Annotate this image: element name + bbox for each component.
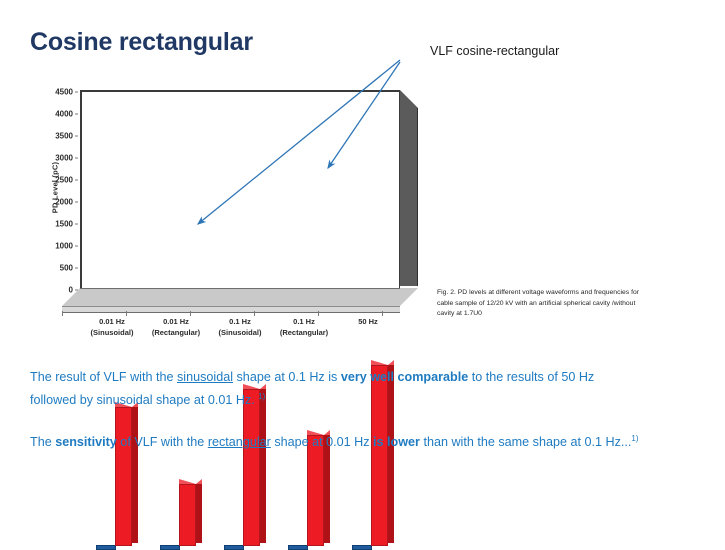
y-tick-2000: 2000 [55,198,73,207]
bar-face-3 [243,389,260,546]
bar-floor-marker-5 [352,545,372,550]
chart-floor-left-skew [62,288,80,306]
p1-footnote-marker: 1) [258,392,265,401]
y-tickmark-4000 [75,114,78,115]
p2-text-4: than with the same shape at 0.1 Hz... [420,435,631,449]
p1-bold-comparable: very well comparable [341,370,468,384]
x-separator-3 [190,311,191,316]
p2-text-2: of VLF with the [117,435,208,449]
p2-text-3: shape at 0.01 Hz [271,435,373,449]
p2-bold-is-lower: is lower [373,435,420,449]
chart-right-wall [400,108,418,286]
x-tick-line1-5: 50 Hz [328,316,408,327]
y-tick-4500: 4500 [55,88,73,97]
y-tickmark-3000 [75,158,78,159]
p1-underline-sinusoidal: sinusoidal [177,370,233,384]
bar-floor-marker-1 [96,545,116,550]
figure-caption: Fig. 2. PD levels at different voltage w… [437,288,645,320]
y-tick-3000: 3000 [55,154,73,163]
x-separator-2 [126,311,127,316]
body-paragraph-2: The sensitivity of VLF with the rectangu… [30,429,695,452]
bar-side-1 [132,407,138,543]
bar-side-2 [196,484,202,543]
x-separator-4 [254,311,255,316]
annotation-label: VLF cosine-rectangular [430,44,559,58]
body-paragraph-1: The result of VLF with the sinusoidal sh… [30,368,630,410]
y-tick-2500: 2500 [55,176,73,185]
x-separator-end [382,311,383,316]
bar-side-3 [260,389,266,543]
p2-bold-sensitivity: sensitivity [55,435,117,449]
bar-floor-marker-3 [224,545,244,550]
pd-level-bar-chart: PD Level (pC) 05001000150020002500300035… [18,88,428,338]
x-tick-label-5: 50 Hz [328,316,408,327]
y-tick-1500: 1500 [55,220,73,229]
page-title: Cosine rectangular [30,28,253,57]
p2-underline-rectangular: rectangular [208,435,271,449]
chart-right-wall-top [400,90,418,108]
x-separator-1 [62,311,63,316]
y-tick-500: 500 [60,264,73,273]
bar-top-skew-5 [388,360,394,365]
y-tick-4000: 4000 [55,110,73,119]
y-tickmark-3500 [75,136,78,137]
plot-area [80,90,400,288]
p1-text-1: The result of VLF with the [30,370,177,384]
p2-footnote-marker: 1) [631,434,638,443]
p2-text-1: The [30,435,55,449]
p1-text-2: shape at 0.1 Hz is [233,370,341,384]
bar-top-skew-2 [196,479,202,484]
bar-face-1 [115,407,132,546]
y-tickmark-1000 [75,246,78,247]
x-tick-line2-4: (Rectangular) [264,327,344,338]
y-tickmark-1500 [75,224,78,225]
chart-floor [80,288,400,307]
y-tickmark-500 [75,268,78,269]
y-tickmark-2500 [75,180,78,181]
x-axis-tick-labels: 0.01 Hz(Sinusoidal)0.01 Hz(Rectangular)0… [62,316,418,350]
chart-floor-right-skew [400,288,418,306]
y-tickmark-2000 [75,202,78,203]
y-axis-tick-labels: 050010001500200025003000350040004500 [40,90,78,288]
bar-face-2 [179,484,196,546]
y-tick-3500: 3500 [55,132,73,141]
y-tick-1000: 1000 [55,242,73,251]
y-tickmark-4500 [75,92,78,93]
bar-floor-marker-2 [160,545,180,550]
bar-floor-marker-4 [288,545,308,550]
x-separator-5 [318,311,319,316]
chart-floor-front-edge [62,306,400,313]
